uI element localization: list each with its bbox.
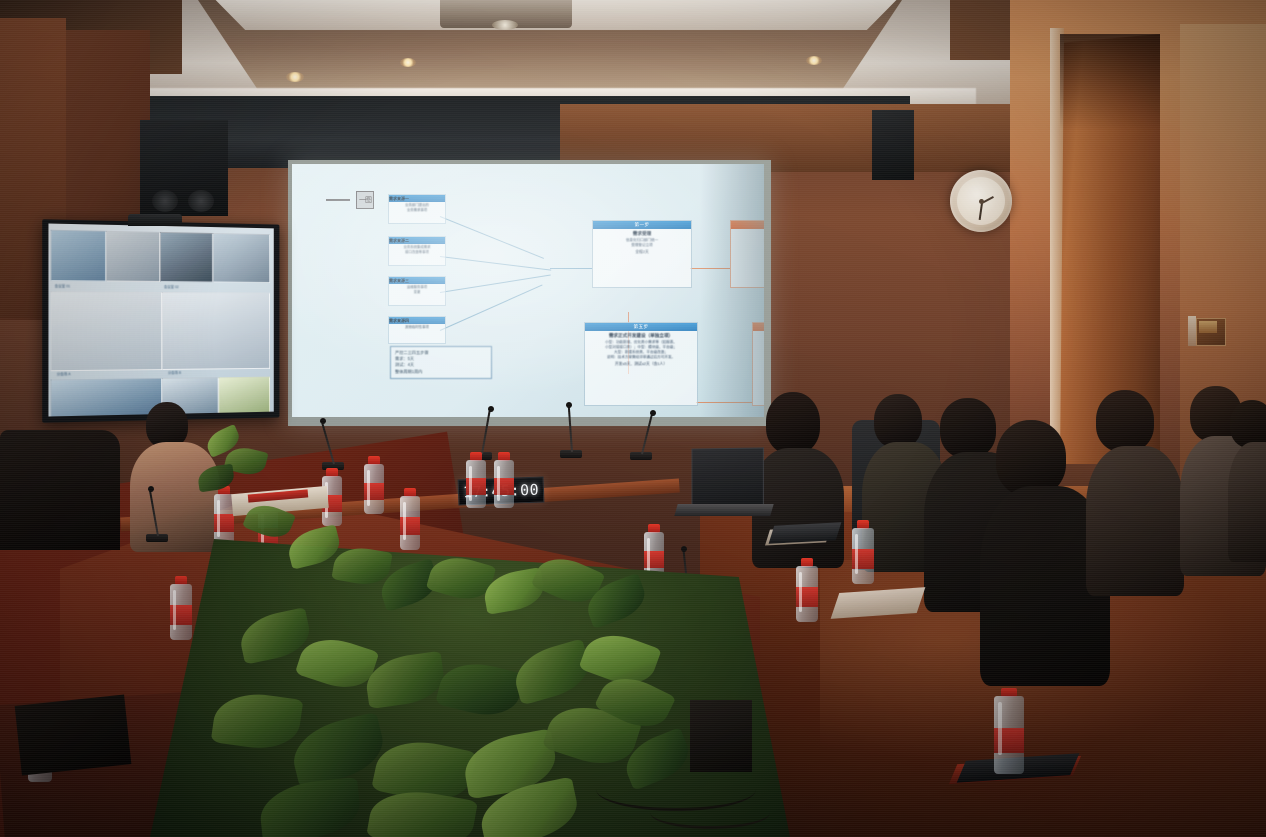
microphone-head-icon bbox=[488, 406, 494, 412]
connector bbox=[440, 274, 551, 293]
tablet-device[interactable] bbox=[769, 522, 842, 543]
video-tile-label: 会议室 01 bbox=[55, 283, 70, 288]
video-tile bbox=[51, 291, 162, 371]
microphone-head-icon bbox=[650, 410, 656, 416]
meeting-room-photo: 一图 需求来源一 业务部门提出的 业务需求事项 需求来源二 bbox=[0, 0, 1266, 837]
bottle-highlight bbox=[217, 500, 220, 537]
downlight-icon bbox=[286, 72, 304, 82]
video-tile bbox=[51, 230, 106, 282]
input-box-2: 需求来源二 业务系统集成需求 接口改造等事项 bbox=[388, 236, 446, 266]
water-bottle[interactable] bbox=[400, 488, 420, 550]
speaker-cone-icon bbox=[152, 190, 178, 212]
attendee-head bbox=[1230, 400, 1266, 448]
bottle-highlight bbox=[469, 466, 472, 501]
microphone-head-icon bbox=[566, 402, 572, 408]
tv-top-camera-icon bbox=[128, 214, 182, 226]
slide-corner-dash bbox=[326, 199, 350, 201]
step-1-duration: 全程2天 bbox=[595, 249, 689, 255]
step-1-header: 第一步 bbox=[593, 221, 691, 229]
laptop-keyboard[interactable] bbox=[674, 504, 773, 516]
bottle-highlight bbox=[647, 538, 650, 574]
step-5-header: 第五步 bbox=[585, 323, 697, 331]
step-5-title: 需求正式开发建设（单独立项） bbox=[587, 333, 695, 339]
foreground-object bbox=[15, 694, 132, 775]
wall-plaque-face bbox=[1199, 321, 1217, 333]
microphone-head-icon bbox=[681, 546, 687, 552]
microphone[interactable] bbox=[560, 450, 582, 458]
input-box-3: 需求来源三 运维服务事项 变更 bbox=[388, 276, 446, 306]
step-5-line-4: 说明：技术方案需经评审通过后方可开发。 bbox=[587, 355, 695, 360]
step-5-line-5: 开发≤5天、测试≤2天（含1人） bbox=[587, 361, 695, 367]
video-tile bbox=[219, 377, 270, 415]
downlight-icon bbox=[400, 58, 416, 67]
microphone[interactable] bbox=[630, 452, 652, 460]
input-box-2-header: 需求来源二 bbox=[389, 237, 445, 244]
slide-legend-box: 严控二三四五步骤 需求：5天 测试：4天 整体周期1周内 bbox=[390, 346, 492, 379]
microphone-head-icon bbox=[320, 418, 326, 424]
legend-line-3: 整体周期1周内 bbox=[395, 369, 487, 375]
attendee-head bbox=[940, 398, 996, 458]
connector bbox=[550, 268, 592, 269]
bottle-highlight bbox=[367, 470, 370, 506]
bottle-highlight bbox=[998, 702, 1002, 755]
bottle-highlight bbox=[497, 466, 500, 501]
input-box-1: 需求来源一 业务部门提出的 业务需求事项 bbox=[388, 194, 446, 224]
bottle-highlight bbox=[403, 502, 406, 540]
connector bbox=[440, 284, 543, 330]
slide-corner-label: 一图 bbox=[356, 191, 374, 209]
bottle-highlight bbox=[173, 590, 176, 630]
video-tile bbox=[106, 231, 160, 282]
wall-clock-pin bbox=[979, 199, 984, 204]
connector bbox=[440, 216, 544, 259]
microphone[interactable] bbox=[146, 534, 168, 542]
attendee-head bbox=[766, 392, 820, 454]
video-conference-tv-screen[interactable]: 会议室 01 会议室 02 分会场 A 分会场 B bbox=[48, 224, 273, 417]
input-box-3-header: 需求来源三 bbox=[389, 277, 445, 284]
wall-speaker-icon bbox=[872, 110, 914, 180]
attendee-head bbox=[874, 394, 922, 448]
water-bottle[interactable] bbox=[494, 452, 514, 508]
laptop-screen[interactable] bbox=[691, 447, 763, 508]
step-1-desc2: 受理登记立项 bbox=[595, 243, 689, 248]
door-shadow bbox=[1060, 34, 1160, 130]
input-box-4: 需求来源四 其他临时性事项 bbox=[388, 316, 446, 344]
attendee-head bbox=[1096, 390, 1154, 452]
video-tile bbox=[213, 233, 270, 283]
microphone-head-icon bbox=[148, 486, 154, 492]
speaker-cone-icon bbox=[188, 190, 214, 212]
step-1-title: 需求受理 bbox=[595, 231, 689, 237]
attendee-body bbox=[1086, 446, 1184, 596]
light-switch[interactable] bbox=[1188, 316, 1196, 346]
input-box-4-line1: 其他临时性事项 bbox=[391, 325, 443, 330]
water-bottle[interactable] bbox=[796, 558, 818, 622]
video-tile-label: 分会场 B bbox=[168, 370, 181, 375]
attendee-body bbox=[1228, 442, 1266, 562]
equipment-box bbox=[690, 700, 752, 772]
input-box-2-line2: 接口改造等事项 bbox=[391, 250, 443, 255]
input-box-1-line2: 业务需求事项 bbox=[391, 208, 443, 213]
video-tile bbox=[162, 292, 270, 370]
projector-lens-icon bbox=[492, 20, 518, 30]
input-box-3-line2: 变更 bbox=[391, 290, 443, 295]
attendee-head bbox=[996, 420, 1066, 496]
attendee-body bbox=[130, 442, 220, 552]
bottle-highlight bbox=[855, 534, 858, 574]
water-bottle[interactable] bbox=[994, 688, 1024, 774]
step-1-node: 第一步 需求受理 信息化归口部门统一 受理登记立项 全程2天 bbox=[592, 220, 692, 288]
video-tile-label: 会议室 02 bbox=[164, 284, 179, 289]
input-box-4-header: 需求来源四 bbox=[389, 317, 445, 324]
water-bottle[interactable] bbox=[170, 576, 192, 640]
downlight-icon bbox=[806, 56, 822, 65]
foreground-chair bbox=[0, 430, 120, 550]
step-5-node: 第五步 需求正式开发建设（单独立项） 小型：功能新增、优化类小需求等（如报表、 … bbox=[584, 322, 698, 406]
projection-screen[interactable]: 一图 需求来源一 业务部门提出的 业务需求事项 需求来源二 bbox=[292, 164, 764, 417]
bottle-highlight bbox=[799, 572, 802, 612]
cable bbox=[650, 796, 770, 829]
water-bottle[interactable] bbox=[852, 520, 874, 584]
screen-shadow-right bbox=[700, 164, 764, 417]
water-bottle[interactable] bbox=[466, 452, 486, 508]
input-box-1-header: 需求来源一 bbox=[389, 195, 445, 202]
connector bbox=[440, 256, 551, 271]
video-tile-label: 分会场 A bbox=[57, 371, 71, 376]
video-tile bbox=[51, 378, 162, 416]
water-bottle[interactable] bbox=[364, 456, 384, 514]
video-tile bbox=[160, 232, 213, 282]
